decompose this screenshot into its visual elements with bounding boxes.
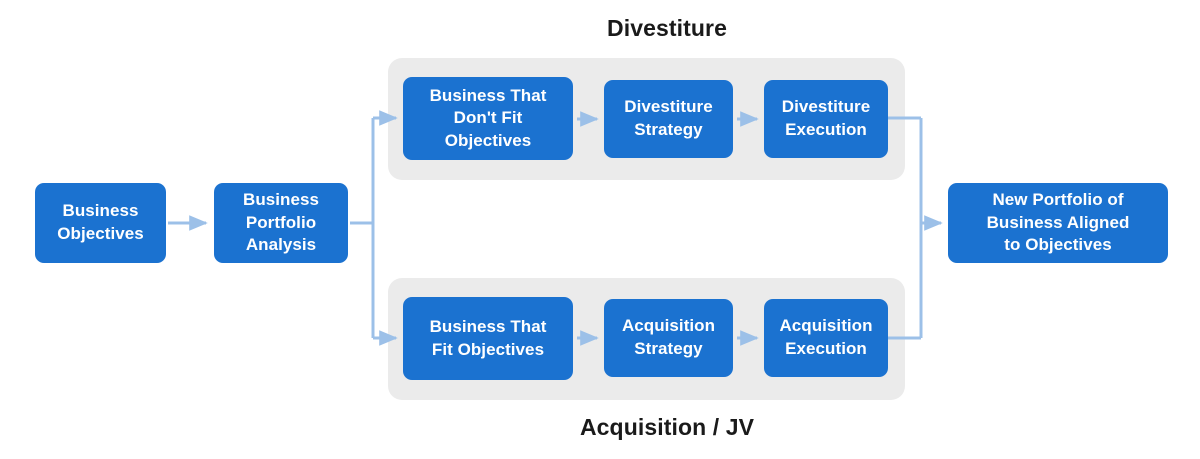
node-divestiture-strategy[interactable]: Divestiture Strategy [604, 80, 733, 158]
node-business-portfolio-analysis[interactable]: Business Portfolio Analysis [214, 183, 348, 263]
node-acquisition-execution[interactable]: Acquisition Execution [764, 299, 888, 377]
flow-diagram-canvas: Divestiture Acquisition / JV [0, 0, 1200, 459]
node-business-objectives[interactable]: Business Objectives [35, 183, 166, 263]
section-caption-acquisition: Acquisition / JV [580, 416, 754, 439]
node-divestiture-execution[interactable]: Divestiture Execution [764, 80, 888, 158]
section-caption-divestiture: Divestiture [607, 17, 727, 40]
node-business-that-fit-objectives[interactable]: Business That Fit Objectives [403, 297, 573, 380]
node-new-portfolio-of-business-aligned-to-objectives[interactable]: New Portfolio of Business Aligned to Obj… [948, 183, 1168, 263]
node-business-that-dont-fit-objectives[interactable]: Business That Don't Fit Objectives [403, 77, 573, 160]
node-acquisition-strategy[interactable]: Acquisition Strategy [604, 299, 733, 377]
